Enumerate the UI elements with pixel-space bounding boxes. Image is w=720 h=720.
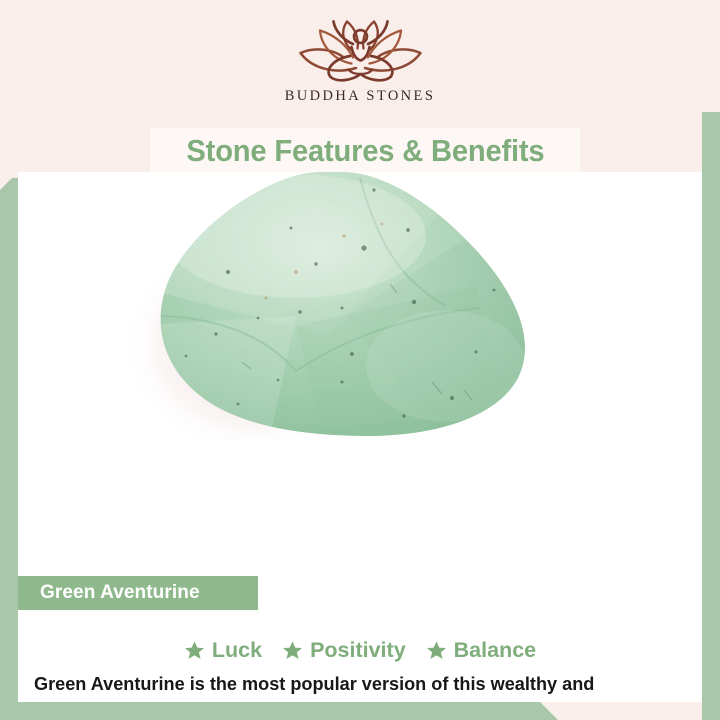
brand-name: BUDDHA STONES: [285, 88, 436, 105]
frame-accent-right: [702, 112, 720, 720]
product-photo: [18, 172, 702, 440]
product-label: Green Aventurine: [40, 582, 200, 604]
brand-logo: BUDDHA STONES: [0, 14, 720, 105]
content-card: Green Aventurine Luck Positivity Balan: [18, 172, 702, 702]
benefit-item: Luck: [184, 638, 262, 663]
star-icon: [426, 640, 447, 661]
benefit-label: Balance: [454, 638, 536, 663]
benefits-row: Luck Positivity Balance: [18, 638, 702, 663]
benefit-label: Luck: [212, 638, 262, 663]
benefit-item: Positivity: [282, 638, 406, 663]
green-aventurine-stone-image: [146, 172, 546, 440]
lotus-meditation-icon: [278, 14, 443, 86]
star-icon: [282, 640, 303, 661]
description-text: Green Aventurine is the most popular ver…: [34, 670, 682, 702]
title-band: Stone Features & Benefits: [150, 128, 580, 174]
infographic-page: BUDDHA STONES Stone Features & Benefits: [0, 0, 720, 720]
product-label-band: Green Aventurine: [18, 576, 258, 610]
frame-accent-bottom: [0, 702, 720, 720]
benefit-label: Positivity: [310, 638, 406, 663]
benefit-item: Balance: [426, 638, 536, 663]
star-icon: [184, 640, 205, 661]
page-title: Stone Features & Benefits: [186, 133, 544, 169]
frame-accent-left: [0, 178, 18, 720]
